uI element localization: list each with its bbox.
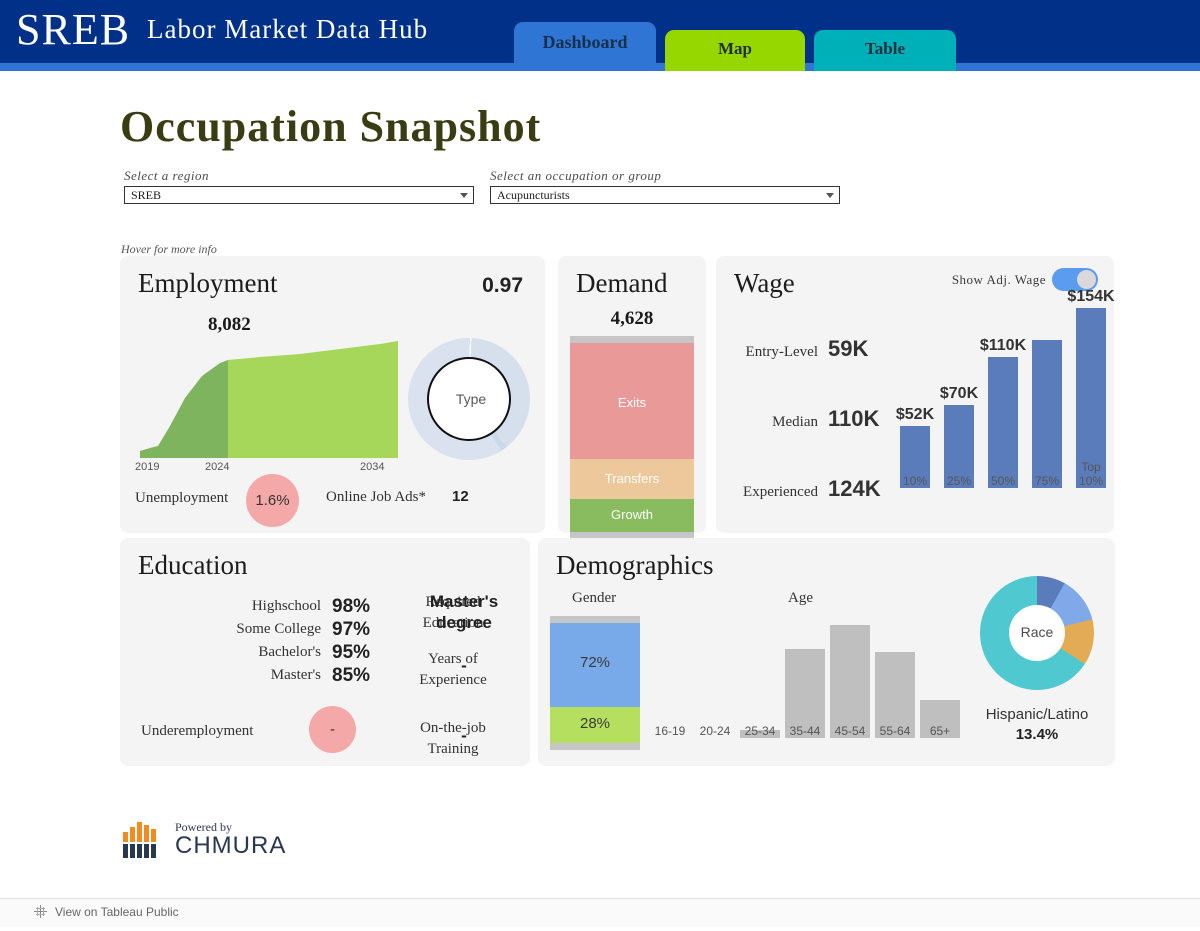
ojt-value: - xyxy=(404,726,524,746)
wage-bar-25-label: $70K xyxy=(930,385,988,405)
age-bar-45-54 xyxy=(830,625,870,738)
wage-bar-top10-label: $154K xyxy=(1062,288,1120,308)
education-bachelors-value: 95% xyxy=(332,642,370,664)
age-cat-20-24: 20-24 xyxy=(690,724,740,738)
gender-stacked-bar[interactable]: 72% 28% xyxy=(550,616,640,750)
education-highschool-label: Highschool xyxy=(136,598,321,615)
chevron-down-icon xyxy=(460,193,468,198)
donut-type-label: Type xyxy=(429,391,513,407)
demand-segment-growth-label: Growth xyxy=(570,507,694,522)
tab-dashboard[interactable]: Dashboard xyxy=(514,22,656,71)
education-row: Bachelor's 95% xyxy=(136,642,386,665)
app-title: Labor Market Data Hub xyxy=(147,14,428,45)
toggle-knob xyxy=(1077,270,1096,289)
wage-bar-top10-category: Top 10% xyxy=(1069,460,1113,488)
wage-bar-10[interactable]: $52K 10% xyxy=(900,426,930,488)
adj-wage-toggle-label: Show Adj. Wage xyxy=(952,272,1046,288)
region-select-value: SREB xyxy=(131,188,161,203)
wage-bar-75-rect xyxy=(1032,340,1062,488)
wage-bar-25[interactable]: $70K 25% xyxy=(944,405,974,488)
page-title: Occupation Snapshot xyxy=(120,101,541,152)
gender-chart-title: Gender xyxy=(572,590,616,607)
occupation-label: Select an occupation or group xyxy=(490,168,661,184)
education-masters-value: 85% xyxy=(332,665,370,687)
wage-title: Wage xyxy=(734,268,795,299)
wage-card: Wage Show Adj. Wage Entry-Level 59K Medi… xyxy=(716,256,1114,533)
tableau-icon xyxy=(33,904,48,919)
employment-card: Employment 0.97 8,082 2019 2024 2034 Typ… xyxy=(120,256,545,533)
education-row: Master's 85% xyxy=(136,665,386,688)
education-attainment-rows: Highschool 98% Some College 97% Bachelor… xyxy=(136,596,386,688)
demand-segment-transfers-label: Transfers xyxy=(570,471,694,486)
race-caption: Hispanic/Latino xyxy=(942,706,1132,723)
age-cat-35-44: 35-44 xyxy=(780,724,830,738)
tab-map[interactable]: Map xyxy=(665,30,805,71)
wage-bar-50-label: $110K xyxy=(974,337,1032,357)
age-cat-55-64: 55-64 xyxy=(870,724,920,738)
age-cat-45-54: 45-54 xyxy=(825,724,875,738)
wage-median-label: Median xyxy=(772,414,818,431)
education-somecollege-value: 97% xyxy=(332,619,370,641)
race-donut-chart[interactable]: Race xyxy=(980,576,1094,690)
age-bar-chart[interactable]: 16-19 20-24 25-34 35-44 45-54 55-64 65+ xyxy=(650,610,960,762)
employment-axis-start: 2019 xyxy=(135,461,159,473)
occupation-select-value: Acupuncturists xyxy=(497,188,570,203)
gender-bar-cap-top xyxy=(550,616,640,623)
hover-hint: Hover for more info xyxy=(121,242,217,257)
wage-summary-rows: Entry-Level 59K Median 110K Experienced … xyxy=(728,334,918,544)
age-col-25-34[interactable]: 25-34 xyxy=(740,730,780,738)
wage-row: Experienced 124K xyxy=(728,474,918,544)
tableau-footer: View on Tableau Public xyxy=(0,898,1200,927)
unemployment-value: 1.6% xyxy=(246,474,299,527)
wage-row: Entry-Level 59K xyxy=(728,334,918,404)
region-select[interactable]: SREB xyxy=(124,186,474,204)
tab-table[interactable]: Table xyxy=(814,30,956,71)
wage-bar-50-category: 50% xyxy=(981,474,1025,488)
demand-stacked-bar[interactable]: Exits Transfers Growth xyxy=(570,336,694,539)
race-percentage: 13.4% xyxy=(942,726,1132,743)
demographics-card: Demographics Gender Age 72% 28% 16-19 20… xyxy=(538,538,1115,766)
wage-bar-50[interactable]: $110K 50% xyxy=(988,357,1018,488)
employment-type-donut[interactable]: Type xyxy=(408,338,530,460)
wage-entry-value: 59K xyxy=(828,336,868,362)
demand-card: Demand 4,628 Exits Transfers Growth xyxy=(558,256,706,533)
employment-axis-end: 2034 xyxy=(360,461,384,473)
wage-bar-75[interactable]: 75% xyxy=(1032,340,1062,488)
wage-bar-50-rect xyxy=(988,357,1018,488)
age-col-45-54[interactable]: 45-54 xyxy=(830,625,870,738)
chevron-down-icon xyxy=(826,193,834,198)
employment-count: 8,082 xyxy=(208,314,251,336)
donut-hole: Type xyxy=(427,357,511,441)
demand-segment-growth[interactable]: Growth xyxy=(570,499,694,532)
gender-bar-cap-bottom xyxy=(550,743,640,750)
demand-segment-exits-label: Exits xyxy=(570,395,694,410)
demographics-title: Demographics xyxy=(556,550,713,581)
education-row: Highschool 98% xyxy=(136,596,386,619)
wage-bar-10-category: 10% xyxy=(893,474,937,488)
required-education-value: Master's degree xyxy=(404,591,524,633)
race-donut-hole: Race xyxy=(1009,605,1065,661)
wage-percentile-chart[interactable]: $52K 10% $70K 25% $110K 50% 75% $154K To… xyxy=(894,306,1104,526)
tableau-link-text: View on Tableau Public xyxy=(55,905,179,919)
education-somecollege-label: Some College xyxy=(136,621,321,638)
sreb-logo: SREB xyxy=(16,6,130,54)
wage-bar-75-label xyxy=(1018,338,1076,340)
demand-bar-cap-top xyxy=(570,336,694,343)
education-title: Education xyxy=(138,550,247,581)
wage-bar-10-label: $52K xyxy=(886,406,944,426)
age-cat-25-34: 25-34 xyxy=(735,724,785,738)
age-cat-16-19: 16-19 xyxy=(645,724,695,738)
wage-entry-label: Entry-Level xyxy=(746,344,818,361)
years-experience-value: - xyxy=(404,656,524,676)
employment-index: 0.97 xyxy=(482,274,523,298)
age-col-35-44[interactable]: 35-44 xyxy=(785,649,825,738)
demand-segment-transfers[interactable]: Transfers xyxy=(570,459,694,499)
unemployment-label: Unemployment xyxy=(135,490,228,507)
wage-bar-25-category: 25% xyxy=(937,474,981,488)
race-donut-label: Race xyxy=(1009,624,1065,640)
underemployment-value: - xyxy=(309,706,356,753)
employment-axis-mid: 2024 xyxy=(205,461,229,473)
gender-segment-male[interactable]: 72% xyxy=(550,623,640,707)
chmura-logo: Powered by CHMURA xyxy=(122,818,322,868)
region-label: Select a region xyxy=(124,168,209,184)
wage-median-value: 110K xyxy=(828,406,879,432)
demand-total: 4,628 xyxy=(558,308,706,330)
age-col-55-64[interactable]: 55-64 xyxy=(875,652,915,738)
online-job-ads-label: Online Job Ads* xyxy=(326,489,426,506)
education-masters-label: Master's xyxy=(136,667,321,684)
wage-experienced-value: 124K xyxy=(828,476,881,502)
education-bachelors-label: Bachelor's xyxy=(136,644,321,661)
occupation-select[interactable]: Acupuncturists xyxy=(490,186,840,204)
gender-segment-female[interactable]: 28% xyxy=(550,707,640,743)
age-chart-title: Age xyxy=(788,590,813,607)
education-row: Some College 97% xyxy=(136,619,386,642)
chmura-bars-icon xyxy=(122,818,170,860)
employment-area-chart[interactable] xyxy=(140,336,408,458)
online-job-ads-value: 12 xyxy=(452,488,469,505)
education-highschool-value: 98% xyxy=(332,596,370,618)
wage-bar-top10[interactable]: $154K Top 10% xyxy=(1076,308,1106,488)
demand-segment-exits[interactable]: Exits xyxy=(570,343,694,459)
chmura-name: CHMURA xyxy=(175,832,286,860)
education-card: Education Highschool 98% Some College 97… xyxy=(120,538,530,766)
employment-title: Employment xyxy=(138,268,277,299)
underemployment-label: Underemployment xyxy=(141,723,253,740)
wage-experienced-label: Experienced xyxy=(743,484,818,501)
wage-bar-75-category: 75% xyxy=(1025,474,1069,488)
demand-title: Demand xyxy=(576,268,667,299)
